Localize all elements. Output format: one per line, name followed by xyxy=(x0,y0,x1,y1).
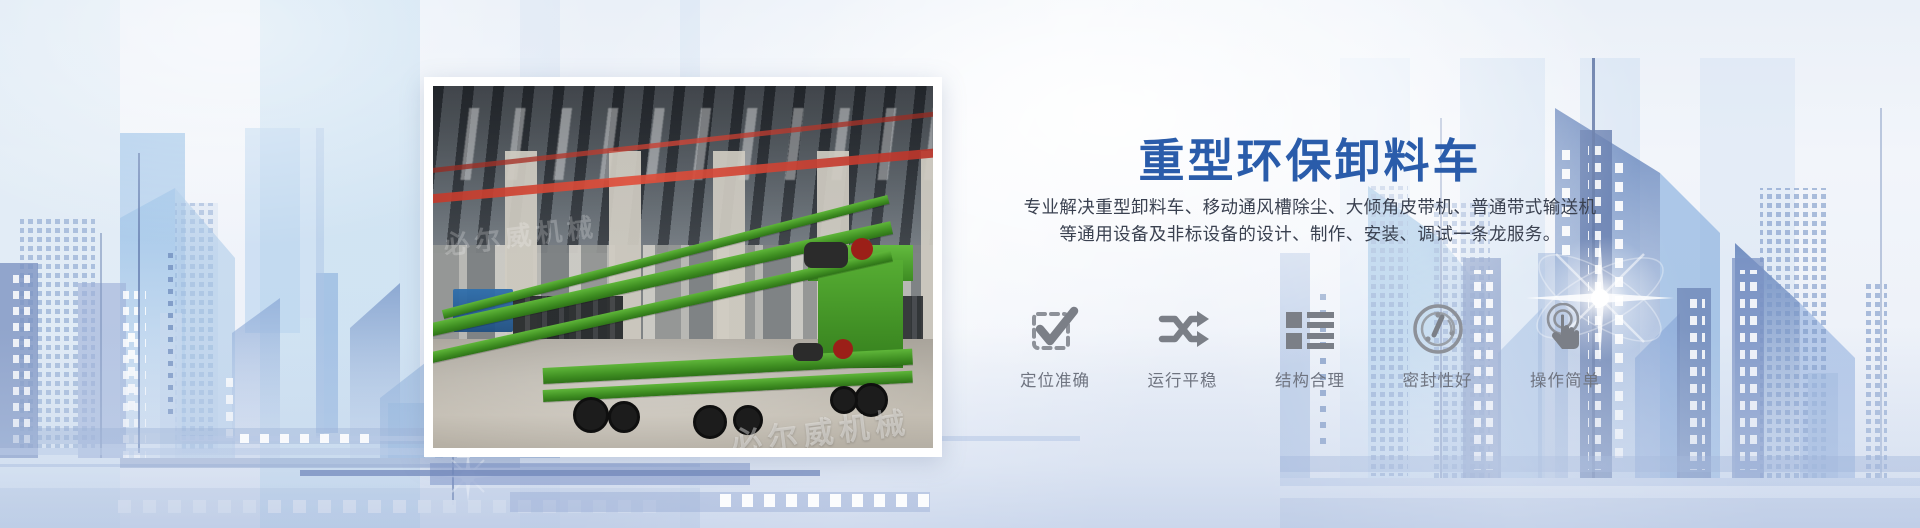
product-photo-card: 必尔威机械 必尔威机械 xyxy=(424,77,942,457)
page-title: 重型环保卸料车 xyxy=(960,134,1660,189)
feature-label: 操作简单 xyxy=(1530,367,1600,391)
left-flare-icon xyxy=(442,450,494,502)
list-blocks-icon xyxy=(1281,300,1339,358)
product-photo: 必尔威机械 必尔威机械 xyxy=(433,86,933,448)
feature-item-easy-operation[interactable]: 操作简单 xyxy=(1506,300,1624,391)
feature-label: 定位准确 xyxy=(1020,367,1090,391)
banner-description: 专业解决重型卸料车、移动通风槽除尘、大倾角皮带机、普通带式输送机等通用设备及非标… xyxy=(1018,194,1602,248)
feature-list: 定位准确 运行平稳 xyxy=(996,300,1624,391)
feature-item-structure[interactable]: 结构合理 xyxy=(1251,300,1369,391)
feature-label: 结构合理 xyxy=(1275,367,1345,391)
banner-content: 重型环保卸料车 专业解决重型卸料车、移动通风槽除尘、大倾角皮带机、普通带式输送机… xyxy=(960,0,1660,528)
feature-item-positioning[interactable]: 定位准确 xyxy=(996,300,1114,391)
shuffle-arrows-icon xyxy=(1154,300,1212,358)
seal-gauge-icon xyxy=(1409,300,1467,358)
feature-item-sealing[interactable]: 密封性好 xyxy=(1379,300,1497,391)
feature-item-smooth-operation[interactable]: 运行平稳 xyxy=(1124,300,1242,391)
checkbox-dashed-icon xyxy=(1026,300,1084,358)
feature-label: 密封性好 xyxy=(1403,367,1473,391)
feature-label: 运行平稳 xyxy=(1148,367,1218,391)
hero-banner: 必尔威机械 必尔威机械 重型环保卸料车 专业解决重型卸料车、移动通风槽除尘、大倾… xyxy=(0,0,1920,528)
tap-hand-icon xyxy=(1536,300,1594,358)
